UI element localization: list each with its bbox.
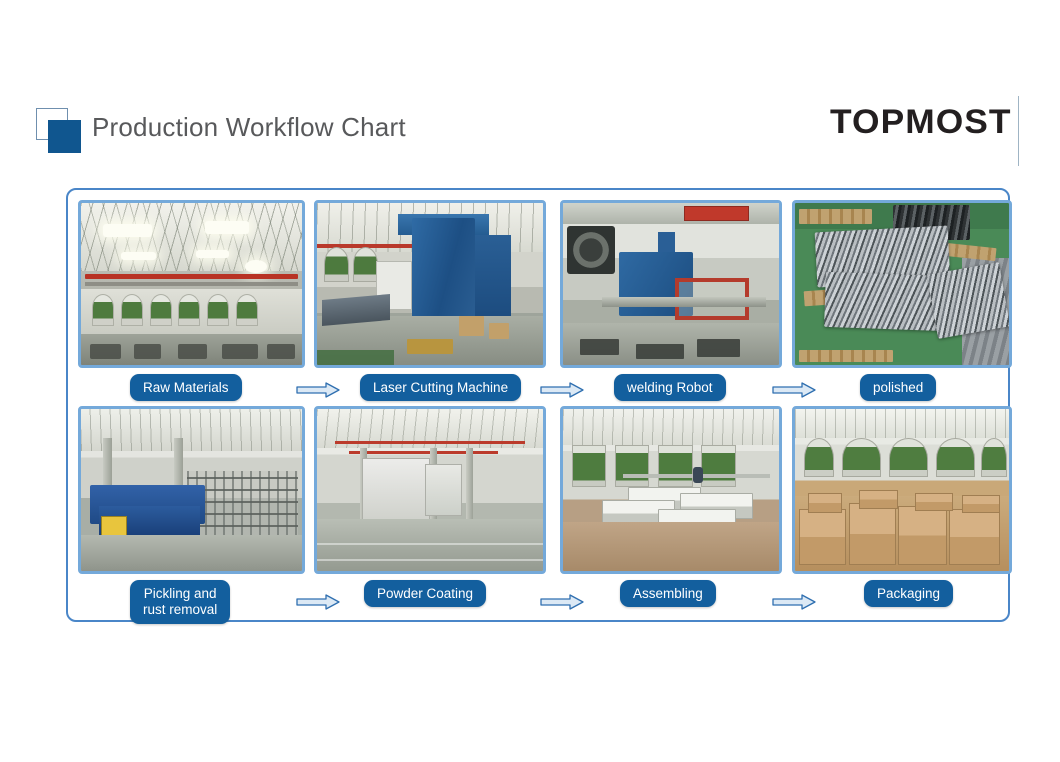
arrow-right-icon	[296, 594, 340, 610]
photo-polished	[792, 200, 1012, 368]
page-title: Production Workflow Chart	[92, 112, 406, 143]
carton-stack	[808, 493, 842, 512]
brand-logo-prefix: TOP	[831, 103, 906, 141]
arched-window	[236, 294, 258, 326]
machine-rail	[602, 297, 766, 307]
scene-laser-cutting	[317, 203, 543, 365]
step-label-assembling[interactable]: Assembling	[620, 580, 716, 607]
step-label-pickling-rust-removal[interactable]: Pickling and rust removal	[130, 580, 230, 624]
carton-stack	[915, 493, 954, 511]
window	[572, 445, 607, 487]
carton-stack	[859, 490, 898, 509]
floor-parts	[580, 339, 619, 355]
carton-stack	[949, 509, 1000, 564]
arched-window	[936, 438, 975, 477]
wooden-pallet	[799, 350, 893, 361]
brand-logo: TOPMOST	[831, 103, 1012, 142]
step-label-polished[interactable]: polished	[860, 374, 936, 401]
warning-sign	[101, 516, 128, 537]
workflow-panel: Raw Materials	[66, 188, 1010, 622]
scene-powder-coating-line	[317, 409, 543, 571]
arrow-right-icon	[540, 594, 584, 610]
material-pile	[90, 344, 121, 359]
material-pile	[178, 344, 207, 359]
crane-rail	[85, 282, 297, 286]
carton-stack	[799, 509, 846, 564]
arched-window	[353, 247, 378, 283]
arched-window	[842, 438, 881, 477]
arrow-right-icon	[772, 594, 816, 610]
yellow-pallet	[407, 339, 452, 354]
carton-stack	[849, 503, 896, 565]
crane-beam	[85, 274, 297, 279]
brand-logo-suffix: OST	[936, 103, 1012, 141]
ceiling-lamp	[196, 250, 229, 258]
photo-laser-cutting-machine	[314, 200, 546, 368]
industrial-fan	[567, 226, 615, 275]
arched-window	[981, 438, 1007, 477]
arched-window	[324, 247, 349, 283]
scene-factory-interior	[81, 203, 302, 365]
arched-window	[150, 294, 172, 326]
scene-packaging-warehouse	[795, 409, 1009, 571]
arrow-right-icon	[296, 382, 340, 398]
scene-assembly-area	[563, 409, 779, 571]
wall-banner	[684, 206, 749, 221]
header-divider	[1018, 96, 1019, 166]
brand-logo-m: M	[906, 103, 937, 142]
roof-panels	[81, 409, 302, 451]
curing-oven	[425, 464, 461, 516]
photo-assembling	[560, 406, 782, 574]
arched-window	[207, 294, 229, 326]
window	[615, 445, 650, 487]
wooden-pallet	[799, 209, 872, 224]
workflow-row-1: Raw Materials	[68, 200, 1012, 408]
overhead-conveyor	[349, 451, 498, 454]
logo-square-filled	[48, 120, 81, 153]
roof-panels	[795, 409, 1009, 438]
floor-marking	[317, 559, 543, 561]
photo-welding-robot	[560, 200, 782, 368]
ceiling-lamp	[103, 224, 152, 237]
roof-trusses	[81, 203, 302, 271]
arrow-right-icon	[540, 382, 584, 398]
material-pile	[134, 344, 161, 359]
material-pile	[222, 344, 257, 359]
floor-marking	[317, 543, 543, 545]
step-label-powder-coating[interactable]: Powder Coating	[364, 580, 486, 607]
scene-welding-robot	[563, 203, 779, 365]
step-label-raw-materials[interactable]: Raw Materials	[130, 374, 242, 401]
photo-raw-materials	[78, 200, 305, 368]
carton-stack	[962, 495, 1001, 513]
scene-pickling-tanks	[81, 409, 302, 571]
cardboard-crate	[489, 323, 509, 339]
carton-stack	[898, 506, 947, 564]
overhead-conveyor	[335, 441, 525, 444]
arched-window	[121, 294, 143, 326]
photo-pickling-rust-removal	[78, 406, 305, 574]
window	[658, 445, 693, 487]
scene-polished-parts	[795, 203, 1009, 365]
step-label-welding-robot[interactable]: welding Robot	[614, 374, 726, 401]
window	[701, 445, 736, 487]
factory-floor	[563, 522, 779, 571]
laser-machine-cabinet	[475, 235, 511, 326]
roof-panels	[563, 409, 779, 445]
polished-metal-stack	[927, 262, 1010, 338]
ceiling-lamp	[121, 252, 156, 260]
page-header: Production Workflow Chart TOPMOST	[0, 0, 1060, 180]
arched-window	[889, 438, 928, 477]
arched-window	[92, 294, 114, 326]
ceiling-lamp	[205, 221, 249, 234]
material-pile	[267, 344, 296, 359]
step-label-laser-cutting-machine[interactable]: Laser Cutting Machine	[360, 374, 521, 401]
arched-window	[178, 294, 200, 326]
ceiling-lamp	[245, 260, 267, 273]
photo-packaging	[792, 406, 1012, 574]
floor-parts	[697, 339, 740, 357]
factory-floor	[81, 535, 302, 571]
green-floor-mat	[317, 350, 394, 365]
photo-powder-coating	[314, 406, 546, 574]
support-post	[466, 448, 473, 526]
workflow-row-2: Pickling and rust removal Powder	[68, 406, 1012, 622]
two-squares-icon	[36, 108, 84, 156]
cardboard-crate	[459, 316, 484, 335]
floor-parts	[636, 344, 684, 359]
arched-window	[804, 438, 834, 477]
worker	[693, 467, 703, 483]
arrow-right-icon	[772, 382, 816, 398]
curing-oven	[362, 458, 430, 523]
step-label-packaging[interactable]: Packaging	[864, 580, 953, 607]
